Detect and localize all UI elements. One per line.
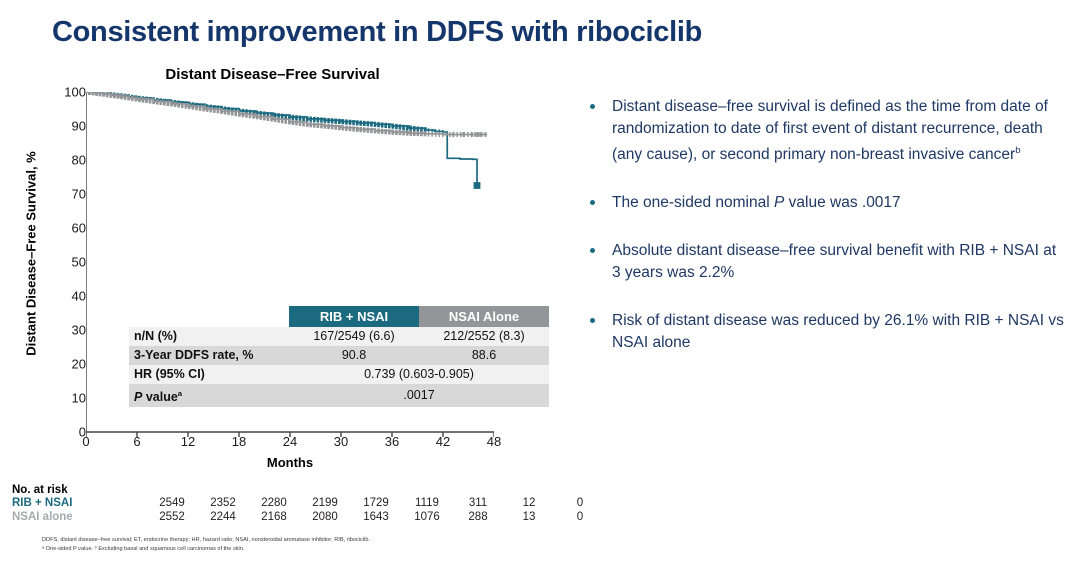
- numbers-at-risk-group-label: RIB + NSAI: [12, 497, 98, 509]
- y-tick-label: 50: [52, 255, 86, 270]
- series-rib-nsai: [86, 92, 480, 189]
- bullet-dot-icon: [590, 318, 595, 323]
- chart-panel: Distant Disease–Free Survival Distant Di…: [0, 66, 570, 486]
- x-tick-label: 18: [224, 434, 254, 449]
- x-axis-title: Months: [86, 455, 494, 470]
- stats-row-label: n/N (%): [129, 327, 289, 346]
- y-tick-label: 80: [52, 153, 86, 168]
- terminal-event-marker: [474, 182, 481, 189]
- stats-header-rib: RIB + NSAI: [289, 306, 419, 327]
- numbers-at-risk-block: No. at risk RIB + NSAI254923522280219917…: [12, 484, 572, 525]
- numbers-at-risk-value: 1643: [356, 511, 396, 523]
- list-item: Distant disease–free survival is defined…: [586, 96, 1066, 166]
- bullet-dot-icon: [590, 104, 595, 109]
- y-tick-label: 30: [52, 323, 86, 338]
- page-title: Consistent improvement in DDFS with ribo…: [52, 16, 702, 49]
- stats-row-value-rib: 167/2549 (6.6): [289, 327, 419, 346]
- bullet-dot-icon: [590, 200, 595, 205]
- bullet-text: The one-sided nominal P value was .0017: [612, 192, 1066, 214]
- numbers-at-risk-rows: RIB + NSAI254923522280219917291119311120…: [12, 497, 572, 525]
- x-axis-tick-labels: 0612182430364248: [86, 434, 494, 454]
- numbers-at-risk-value: 1076: [407, 511, 447, 523]
- bullet-list: Distant disease–free survival is defined…: [586, 96, 1066, 380]
- numbers-at-risk-value: 13: [509, 511, 549, 523]
- y-tick-label: 40: [52, 289, 86, 304]
- numbers-at-risk-value: 1119: [407, 497, 447, 509]
- footnote-line: DDFS, distant disease–free survival; ET,…: [42, 536, 602, 545]
- list-item: The one-sided nominal P value was .0017: [586, 192, 1066, 214]
- x-tick-label: 36: [377, 434, 407, 449]
- stats-header-nsai: NSAI Alone: [419, 306, 549, 327]
- y-tick-label: 100: [52, 85, 86, 100]
- numbers-at-risk-value: 288: [458, 511, 498, 523]
- table-row: n/N (%)167/2549 (6.6)212/2552 (8.3): [129, 327, 549, 346]
- footnotes: DDFS, distant disease–free survival; ET,…: [42, 536, 602, 553]
- numbers-at-risk-value: 0: [560, 497, 600, 509]
- y-axis-tick-labels: 0102030405060708090100: [40, 92, 86, 432]
- numbers-at-risk-group-label: NSAI alone: [12, 511, 98, 523]
- x-tick-label: 30: [326, 434, 356, 449]
- stats-row-merged-value: .0017: [289, 384, 549, 407]
- numbers-at-risk-value: 0: [560, 511, 600, 523]
- table-header-row: RIB + NSAI NSAI Alone: [129, 306, 549, 327]
- x-tick-label: 24: [275, 434, 305, 449]
- slide-root: Consistent improvement in DDFS with ribo…: [0, 0, 1080, 561]
- x-tick-label: 12: [173, 434, 203, 449]
- numbers-at-risk-value: 2280: [254, 497, 294, 509]
- x-tick-label: 0: [71, 434, 101, 449]
- numbers-at-risk-value: 12: [509, 497, 549, 509]
- numbers-at-risk-value: 311: [458, 497, 498, 509]
- numbers-at-risk-value: 2549: [152, 497, 192, 509]
- bullet-text: Distant disease–free survival is defined…: [612, 96, 1066, 166]
- stats-row-label: HR (95% CI): [129, 365, 289, 384]
- numbers-at-risk-row: NSAI alone255222442168208016431076288130: [12, 511, 572, 525]
- numbers-at-risk-value: 1729: [356, 497, 396, 509]
- stats-row-value-nsai: 88.6: [419, 346, 549, 365]
- x-tick-label: 42: [428, 434, 458, 449]
- list-item: Risk of distant disease was reduced by 2…: [586, 310, 1066, 354]
- footnote-line: ᵃ One-sided P value. ᵇ Excluding basal a…: [42, 545, 602, 554]
- stats-table: RIB + NSAI NSAI Alone n/N (%)167/2549 (6…: [129, 306, 549, 407]
- y-tick-label: 60: [52, 221, 86, 236]
- table-row: HR (95% CI)0.739 (0.603-0.905): [129, 365, 549, 384]
- chart-title: Distant Disease–Free Survival: [0, 66, 545, 83]
- y-tick-label: 20: [52, 357, 86, 372]
- stats-table-head: RIB + NSAI NSAI Alone: [129, 306, 549, 327]
- y-tick-label: 90: [52, 119, 86, 134]
- table-row: P valuea.0017: [129, 384, 549, 407]
- numbers-at-risk-caption: No. at risk: [12, 484, 572, 496]
- stats-row-value-nsai: 212/2552 (8.3): [419, 327, 549, 346]
- x-tick-label: 6: [122, 434, 152, 449]
- numbers-at-risk-value: 2244: [203, 511, 243, 523]
- stats-table-body: n/N (%)167/2549 (6.6)212/2552 (8.3)3-Yea…: [129, 327, 549, 407]
- table-row: 3-Year DDFS rate, %90.888.6: [129, 346, 549, 365]
- numbers-at-risk-value: 2352: [203, 497, 243, 509]
- bullet-text: Risk of distant disease was reduced by 2…: [612, 310, 1066, 354]
- y-tick-label: 10: [52, 391, 86, 406]
- stats-row-label: 3-Year DDFS rate, %: [129, 346, 289, 365]
- numbers-at-risk-row: RIB + NSAI254923522280219917291119311120: [12, 497, 572, 511]
- numbers-at-risk-value: 2552: [152, 511, 192, 523]
- stats-header-blank: [129, 306, 289, 327]
- numbers-at-risk-value: 2168: [254, 511, 294, 523]
- numbers-at-risk-value: 2199: [305, 497, 345, 509]
- stats-row-label: P valuea: [129, 384, 289, 407]
- y-axis-title: Distant Disease–Free Survival, %: [24, 84, 39, 424]
- survival-curve: [86, 92, 477, 186]
- y-tick-label: 70: [52, 187, 86, 202]
- bullet-text: Absolute distant disease–free survival b…: [612, 240, 1066, 284]
- series-layer: [86, 92, 487, 189]
- stats-row-value-rib: 90.8: [289, 346, 419, 365]
- bullet-dot-icon: [590, 248, 595, 253]
- list-item: Absolute distant disease–free survival b…: [586, 240, 1066, 284]
- x-tick-label: 48: [479, 434, 509, 449]
- numbers-at-risk-value: 2080: [305, 511, 345, 523]
- stats-row-merged-value: 0.739 (0.603-0.905): [289, 365, 549, 384]
